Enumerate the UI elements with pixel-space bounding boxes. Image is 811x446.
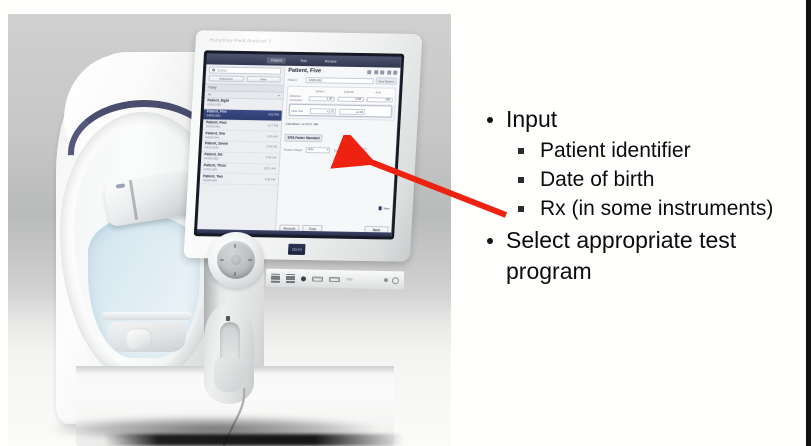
patient-dob: 04/05/1955 [204,157,222,160]
port-panel: USB [266,269,404,290]
rx-row-label: Distance Correction [289,94,305,102]
audio-jack-port[interactable] [301,276,306,281]
chin-rest-cup [126,328,152,350]
usb-port-label: USB [346,277,353,281]
patient-last-test: 9:04 AM [267,144,278,149]
knob-tick-top [234,244,236,248]
fixation-target-select[interactable]: Auto ▾ [306,147,330,153]
bullet-select-test-program: Select appropriate test program [470,225,790,287]
patient-dob: 06/11/1963 [205,147,228,150]
rx-col-sphere: Sphere [307,89,333,93]
patient-last-test: 9:50 AM [267,133,278,138]
new-patient-chip[interactable]: New Patient [375,77,396,84]
patient-last-test: 3:17 PM [268,122,279,127]
knob-tick-bottom [234,272,236,276]
rx-axis-input[interactable]: 090 [367,97,393,103]
print-icon[interactable] [368,70,372,74]
square-bullet-icon [518,177,524,183]
power-group [384,277,399,284]
detail-header: Patient, Five [288,68,397,76]
monitor-brand-label: Humphrey Field Analyzer 3 [210,37,272,43]
chevron-down-icon: ▾ [327,149,328,152]
bullet-list-level1: Input Patient identifier Date of birth R… [470,104,790,287]
bullet-rx: Rx (in some instruments) [506,194,790,223]
patient-dob: 05/05/1946 [206,125,227,128]
bullet-date-of-birth-label: Date of birth [540,165,790,194]
patient-dob: 01/01/1950 [207,104,229,107]
patient-list-pane: Search Advanced New Today All ▾ [197,64,285,234]
knob-tick-right [248,259,252,261]
patient-dob: 02/05/1949 [203,179,223,182]
rx-row-near-add[interactable]: Near Add +2.75 +2.00 [291,108,390,115]
bullet-content: Input Patient identifier Date of birth R… [470,104,790,289]
fixation-target-value: Auto [308,148,314,151]
rx-row-distance[interactable]: Distance Correction -1.00 -0.50 090 [289,94,393,104]
detail-toolbar[interactable] [368,70,398,75]
advanced-search-button[interactable]: Advanced [208,75,243,82]
rx-col-axis: Axis [365,90,391,94]
vent-right-icon [286,273,295,282]
patient-rows[interactable]: Patient, Eight 01/01/1950 Patient, Five … [197,98,283,234]
joystick-center-button[interactable] [231,255,241,265]
bullet-date-of-birth: Date of birth [506,165,790,194]
rx-cylinder-input[interactable]: -0.50 [338,96,364,102]
calculated-rx-text: Calculated: +2.25 D, 090 [285,122,394,128]
search-icon [212,68,215,71]
rx-block[interactable]: Sphere Cylinder Axis Distance Correction… [285,86,396,121]
fixation-target-label: Fixation Target [284,147,303,151]
tab-review[interactable]: Review [321,58,341,64]
patient-last-test: 10:51 AM [264,165,276,170]
patient-last-test: 9:58 AM [265,176,276,181]
tab-test[interactable]: Test [296,57,311,63]
edit-icon[interactable] [374,70,378,74]
bullet-patient-identifier: Patient identifier [506,136,790,165]
rx-row-label: Near Add [291,109,307,113]
rx-sphere-input[interactable]: -1.00 [309,96,335,102]
forehead-rest [102,312,192,320]
page-title: Patient, Five [288,68,321,75]
chevron-down-icon: ▾ [278,94,280,98]
square-bullet-icon [518,148,524,154]
bullet-rx-label: Rx (in some instruments) [540,194,790,223]
power-button[interactable] [392,277,399,284]
square-bullet-icon [518,206,524,212]
patient-search-input[interactable]: Search [209,66,281,74]
close-icon[interactable] [393,71,397,75]
search-placeholder: Search [217,68,227,72]
patient-dob: 04/05/1941 [205,136,225,139]
rx-near-sphere-input[interactable]: +2.75 [310,108,336,114]
power-indicator-icon [384,278,388,282]
brand-label: ZEISS [291,247,301,251]
patient-id-field[interactable]: Patient 00052282 New Patient [288,76,397,85]
patient-dob: 04/05/1952 [206,114,226,117]
tab-patient[interactable]: Patient [267,57,287,63]
response-handle-grip[interactable] [214,358,244,392]
column-all: All [208,92,212,96]
rx-near-add-highlight[interactable]: Near Add +2.75 +2.00 [289,104,393,117]
round-bullet-icon [487,238,493,244]
usb-port-2[interactable] [329,276,340,281]
rx-col-cylinder: Cylinder [336,90,362,94]
gear-icon[interactable] [380,70,384,74]
patient-list-buttons: Advanced New [208,75,280,82]
patient-id-input[interactable]: 00052282 [306,77,374,84]
help-icon[interactable] [387,71,391,75]
patient-id-label: Patient [288,77,304,81]
round-bullet-icon [487,117,493,123]
patient-dob: 03/05/1961 [203,168,226,171]
bullet-select-test-program-label: Select appropriate test program [506,225,790,287]
slide-canvas: Humphrey Field Analyzer 3 Patient Test R… [0,0,811,446]
bullet-input: Input Patient identifier Date of birth R… [470,104,790,223]
response-handle-button[interactable] [226,316,230,321]
contact-shadow [104,434,404,446]
patient-last-test: 8:44 AM [266,154,277,159]
test-strategy-label[interactable]: SITA Faster Standard [284,134,323,143]
slide-border-right [806,0,811,446]
usb-port-1[interactable] [312,276,323,281]
patient-last-test: 4:02 PM [268,112,279,117]
bullet-list-level2: Patient identifier Date of birth Rx (in … [506,136,790,223]
rx-near-cylinder-input[interactable]: +2.00 [339,109,365,115]
zeiss-logo-badge: ZEISS [288,244,306,255]
vent-left-icon [271,273,280,282]
list-item[interactable]: Patient, Two 02/05/1949 9:58 AM [200,173,279,185]
new-patient-button[interactable]: New [246,76,281,83]
knob-tick-left [220,259,224,261]
bullet-patient-identifier-label: Patient identifier [540,136,790,165]
bullet-input-label: Input [506,104,790,135]
